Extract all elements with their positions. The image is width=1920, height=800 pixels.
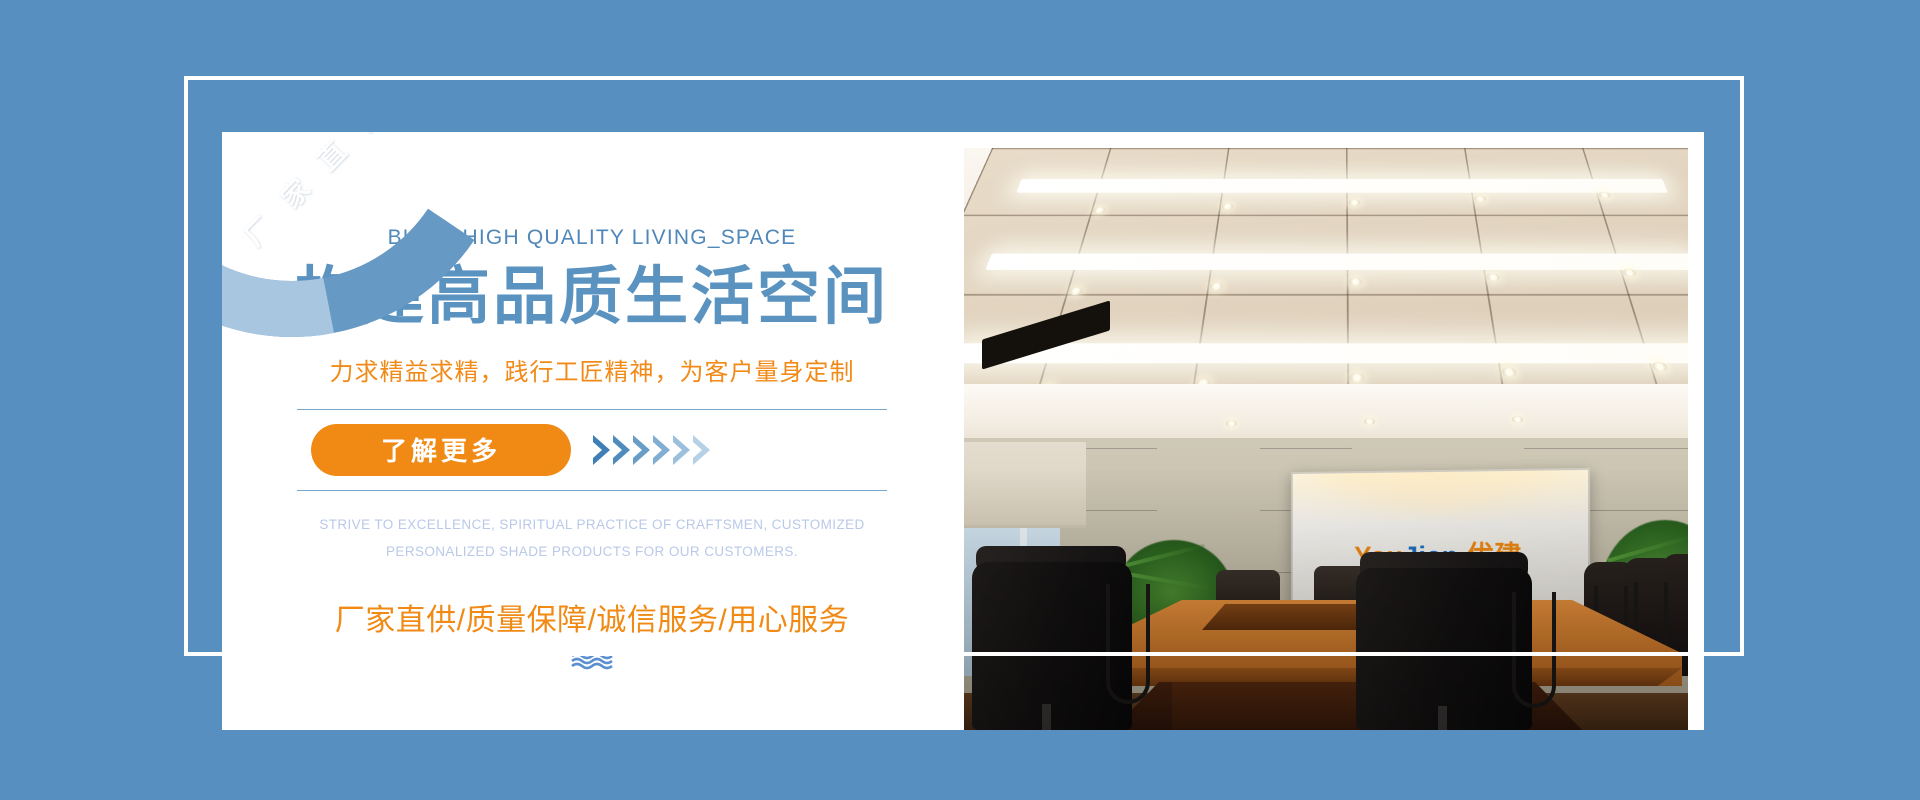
fineprint-line-1: STRIVE TO EXCELLENCE, SPIRITUAL PRACTICE… <box>246 511 938 538</box>
chevron-right-icon <box>673 435 690 465</box>
chevron-right-icon <box>693 435 710 465</box>
chevron-arrows-decoration <box>593 435 710 465</box>
ribbon-arc-fade <box>222 132 552 422</box>
hero-fineprint: STRIVE TO EXCELLENCE, SPIRITUAL PRACTICE… <box>246 511 938 565</box>
chevron-right-icon <box>613 435 630 465</box>
photo-vignette <box>964 148 1688 730</box>
corner-ribbon: 厂 家 直 供 <box>222 132 552 432</box>
banner-card: 厂 家 直 供 BUILD HIGH QUALITY LIVING_SPACE … <box>222 132 1704 730</box>
chevron-right-icon <box>593 435 610 465</box>
fineprint-line-2: PERSONALIZED SHADE PRODUCTS FOR OUR CUST… <box>246 538 938 565</box>
divider-bottom <box>297 490 887 491</box>
wave-divider-icon <box>246 651 938 676</box>
chevron-right-icon <box>653 435 670 465</box>
conference-room-photo: YouJian优建 优建智能科技 <box>964 148 1688 730</box>
chevron-right-icon <box>633 435 650 465</box>
hero-keywords: 厂家直供/质量保障/诚信服务/用心服务 <box>246 595 938 639</box>
